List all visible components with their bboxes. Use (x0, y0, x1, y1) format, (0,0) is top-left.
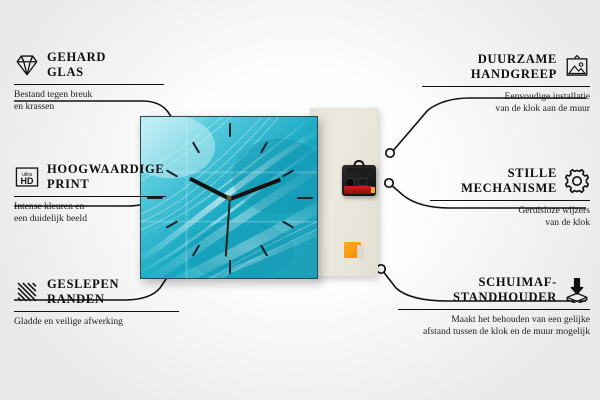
product-photo (140, 103, 378, 287)
feature-heading: DUURZAME HANDGREEP (422, 52, 590, 83)
connector-dot-handgreep (386, 149, 394, 157)
feature-heading: GESLEPEN RANDEN (14, 277, 179, 308)
beveled-edge-icon (14, 279, 40, 305)
foam-spacer (344, 242, 361, 258)
feature-title: STILLE MECHANISME (461, 166, 557, 197)
feature-divider (422, 86, 590, 87)
feature-title: GESLEPEN RANDEN (47, 277, 119, 308)
feature-title: GEHARD GLAS (47, 50, 106, 81)
ultra-hd-icon-bottom-label: HD (21, 176, 34, 186)
feature-description: Eenvoudige installatie van de klok aan d… (422, 91, 590, 116)
feature-divider (14, 84, 164, 85)
feature-description: Bestand tegen breuk en krassen (14, 89, 164, 114)
gear-icon (564, 168, 590, 194)
feature-duurzame-handgreep: DUURZAME HANDGREEP Eenvoudige installati… (422, 52, 590, 115)
feature-heading: STILLE MECHANISME (430, 166, 590, 197)
feature-gehard-glas: GEHARD GLAS Bestand tegen breuk en krass… (14, 50, 164, 113)
tick-12 (229, 123, 231, 137)
tick-6 (229, 260, 231, 274)
feature-divider (430, 200, 590, 201)
feature-heading: GEHARD GLAS (14, 50, 164, 81)
feature-geslepen-randen: GESLEPEN RANDEN Gladde en veilige afwerk… (14, 277, 179, 328)
connector-dot-mechanisme (385, 179, 393, 187)
diamond-icon (14, 52, 40, 78)
feature-stille-mechanisme: STILLE MECHANISME Geruisloze wijzers van… (430, 166, 590, 229)
feature-heading: SCHUIMAF- STANDHOUDER (398, 275, 590, 306)
product-infographic: GEHARD GLAS Bestand tegen breuk en krass… (0, 0, 600, 400)
feature-schuimafstandhouder: SCHUIMAF- STANDHOUDER Maakt het behouden… (398, 275, 590, 338)
feature-description: Intense kleuren en een duidelijk beeld (14, 201, 166, 226)
feature-description: Gladde en veilige afwerking (14, 316, 179, 328)
mechanism-top-plate (346, 168, 370, 175)
tick-3 (297, 197, 313, 199)
battery (344, 186, 372, 194)
picture-frame-icon (564, 54, 590, 80)
feature-description: Maakt het behouden van een gelijke afsta… (398, 314, 590, 339)
feature-title: SCHUIMAF- STANDHOUDER (453, 275, 557, 306)
feature-hoogwaardige-print: ultra HD HOOGWAARDIGE PRINT Intense kleu… (14, 162, 166, 225)
mechanism-hanger-icon (354, 160, 365, 167)
feature-heading: ultra HD HOOGWAARDIGE PRINT (14, 162, 166, 193)
press-down-icon (564, 277, 590, 303)
clock-center-pin (227, 195, 232, 200)
feature-divider (14, 311, 179, 312)
feature-title: DUURZAME HANDGREEP (471, 52, 557, 83)
feature-divider (14, 196, 166, 197)
connector-dot-houder (377, 265, 385, 273)
clock-face (140, 116, 318, 279)
mechanism-switch (358, 178, 367, 186)
feature-divider (398, 309, 590, 310)
feature-title: HOOGWAARDIGE PRINT (47, 162, 164, 193)
clock-mechanism (342, 165, 376, 196)
feature-description: Geruisloze wijzers van de klok (430, 205, 590, 230)
ultra-hd-icon: ultra HD (14, 164, 40, 190)
